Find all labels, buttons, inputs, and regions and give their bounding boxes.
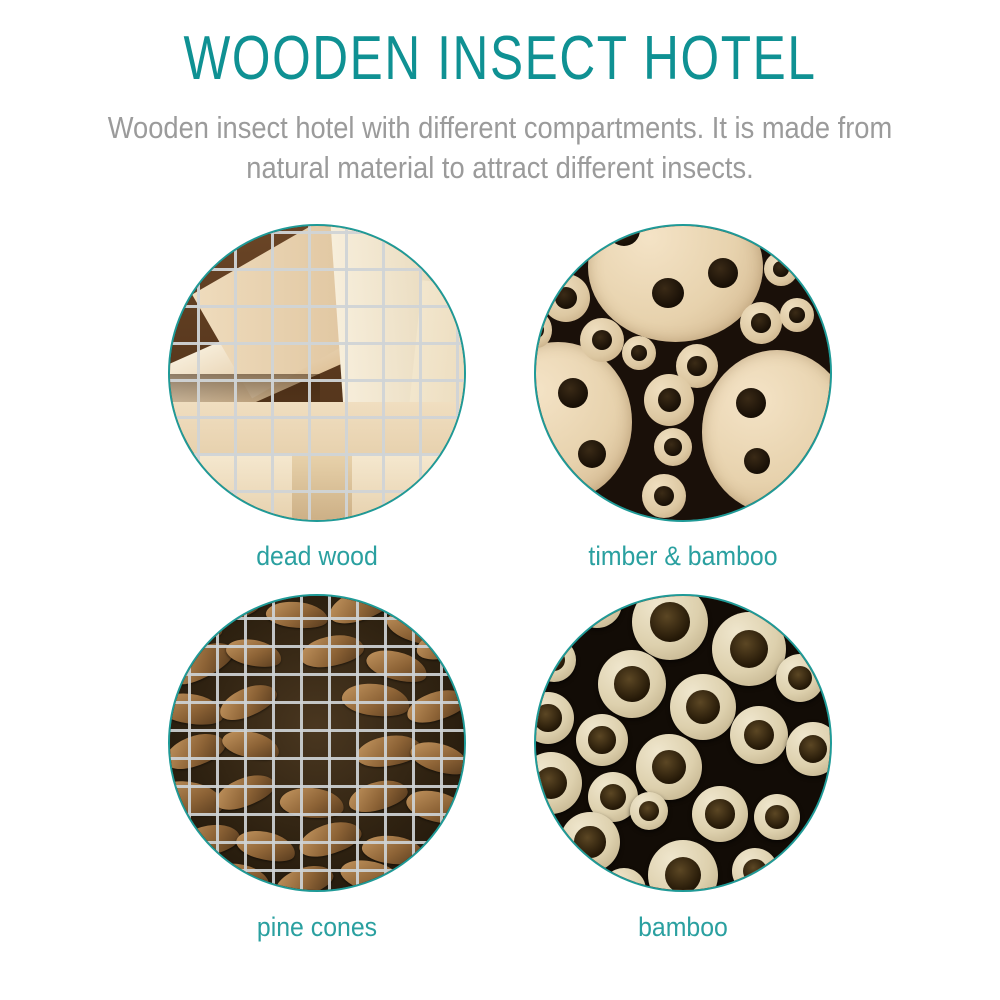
- feature-image-timber-bamboo: [534, 224, 832, 522]
- drilled-hole: [652, 278, 684, 308]
- bamboo-tube: [776, 654, 824, 702]
- feature-caption-timber-bamboo: timber & bamboo: [546, 541, 820, 572]
- bamboo-tube: [598, 650, 666, 718]
- bamboo-tube: [754, 794, 800, 840]
- drilled-hole: [744, 448, 770, 474]
- bamboo-tube: [534, 638, 576, 682]
- bamboo-tube: [712, 612, 786, 686]
- bamboo-tube: [654, 428, 692, 466]
- drilled-hole: [708, 258, 738, 288]
- bamboo-tube: [642, 474, 686, 518]
- feature-image-bamboo: [534, 594, 832, 892]
- feature-caption-pine-cones: pine cones: [180, 912, 454, 943]
- drilled-hole: [736, 388, 766, 418]
- feature-image-pine-cones: [168, 594, 466, 892]
- drilled-hole: [558, 378, 588, 408]
- feature-caption-bamboo: bamboo: [546, 912, 820, 943]
- page-title: WOODEN INSECT HOTEL: [100, 26, 900, 92]
- feature-image-dead-wood: [168, 224, 466, 522]
- wire-mesh-overlay: [168, 594, 466, 892]
- poster: WOODEN INSECT HOTEL Wooden insect hotel …: [0, 0, 1000, 1000]
- bamboo-tube: [580, 318, 624, 362]
- bamboo-tube: [644, 374, 694, 426]
- bamboo-tube: [636, 734, 702, 800]
- bamboo-tube: [670, 674, 736, 740]
- bamboo-tube: [780, 298, 814, 332]
- bamboo-tube: [692, 786, 748, 842]
- page-subtitle: Wooden insect hotel with different compa…: [85, 108, 916, 188]
- drilled-hole: [578, 440, 606, 468]
- bamboo-tube: [576, 714, 628, 766]
- bamboo-tube: [542, 274, 590, 322]
- bamboo-tube: [560, 812, 620, 872]
- bamboo-tube: [732, 848, 778, 892]
- wire-mesh-overlay: [168, 224, 466, 522]
- bamboo-tube: [786, 722, 832, 776]
- bamboo-tube: [764, 252, 798, 286]
- bamboo-tube: [740, 302, 782, 344]
- bamboo-tube: [630, 792, 668, 830]
- feature-caption-dead-wood: dead wood: [180, 541, 454, 572]
- bamboo-tube: [730, 706, 788, 764]
- bamboo-tube: [622, 336, 656, 370]
